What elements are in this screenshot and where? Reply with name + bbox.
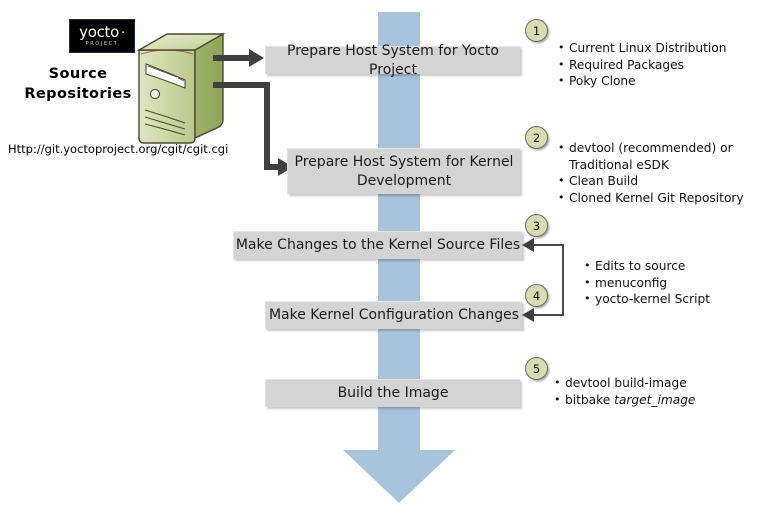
feedback-arrowhead-to-step4 <box>522 308 534 322</box>
note-item: yocto-kernel Script <box>595 291 710 308</box>
source-label-line1: Source <box>18 64 138 84</box>
step-number-2-text: 2 <box>533 131 540 145</box>
notes-step1: Current Linux Distribution Required Pack… <box>556 40 726 90</box>
logo-dot: · <box>119 26 125 41</box>
yocto-project-logo: yocto· PROJECT <box>69 19 135 53</box>
process-box-step5-label: Build the Image <box>338 384 449 403</box>
process-box-step2-label-line2: Development <box>357 172 451 191</box>
note-item: devtool (recommended) or <box>569 140 744 157</box>
note-item: Cloned Kernel Git Repository <box>569 190 744 207</box>
notes-step5: devtool build-image bitbake target_image <box>552 375 695 408</box>
step-number-3: 3 <box>525 214 548 237</box>
feedback-arrowhead-to-step3 <box>522 238 534 252</box>
logo-word-text: yocto <box>79 23 119 41</box>
logo-subtitle: PROJECT <box>86 42 119 47</box>
step-number-4-text: 4 <box>533 289 540 303</box>
process-box-step5[interactable]: Build the Image <box>265 379 520 407</box>
connector-to-step2-vertical <box>264 82 270 170</box>
note-item-continuation: Traditional eSDK <box>569 157 744 174</box>
note-item-prefix: bitbake <box>565 393 614 407</box>
process-box-step2[interactable]: Prepare Host System for Kernel Developme… <box>287 148 520 194</box>
step-number-3-text: 3 <box>533 219 540 233</box>
step-number-1: 1 <box>525 19 548 42</box>
notes-step2: devtool (recommended) or Traditional eSD… <box>556 140 744 206</box>
process-box-step3-label: Make Changes to the Kernel Source Files <box>236 236 520 255</box>
diagram-canvas: yocto· PROJECT Source Repositories Http:… <box>0 0 769 517</box>
process-box-step4-label: Make Kernel Configuration Changes <box>269 306 519 325</box>
logo-wordmark: yocto· <box>79 25 125 40</box>
process-box-step4[interactable]: Make Kernel Configuration Changes <box>265 301 522 329</box>
connector-to-step1-arrowhead <box>249 49 264 67</box>
connector-to-step2-horizontal-top <box>213 82 270 88</box>
note-item: Poky Clone <box>569 73 726 90</box>
process-box-step1-label: Prepare Host System for Yocto Project <box>266 42 520 80</box>
step-number-5: 5 <box>525 357 548 380</box>
feedback-bracket-bottom-line <box>534 314 562 316</box>
source-repositories-label: Source Repositories <box>18 64 138 104</box>
note-item: Edits to source <box>595 258 710 275</box>
connector-to-step1-line <box>213 55 253 61</box>
main-flow-arrow-head <box>343 450 455 503</box>
step-number-4: 4 <box>525 284 548 307</box>
note-item: menuconfig <box>595 275 710 292</box>
process-box-step1[interactable]: Prepare Host System for Yocto Project <box>265 46 520 74</box>
note-item: Clean Build <box>569 173 744 190</box>
note-item: Required Packages <box>569 57 726 74</box>
source-label-line2: Repositories <box>18 84 138 104</box>
note-item: devtool build-image <box>565 375 695 392</box>
step-number-2: 2 <box>525 126 548 149</box>
note-item-italic-value: target_image <box>614 393 695 407</box>
feedback-bracket-vertical <box>562 244 564 316</box>
step-number-1-text: 1 <box>533 24 540 38</box>
process-box-step3[interactable]: Make Changes to the Kernel Source Files <box>233 231 522 259</box>
feedback-bracket-top-line <box>534 244 562 246</box>
note-item: bitbake target_image <box>565 392 695 409</box>
note-item: Current Linux Distribution <box>569 40 726 57</box>
step-number-5-text: 5 <box>533 362 540 376</box>
process-box-step2-label-line1: Prepare Host System for Kernel <box>295 153 514 172</box>
notes-steps-3-4: Edits to source menuconfig yocto-kernel … <box>582 258 710 308</box>
